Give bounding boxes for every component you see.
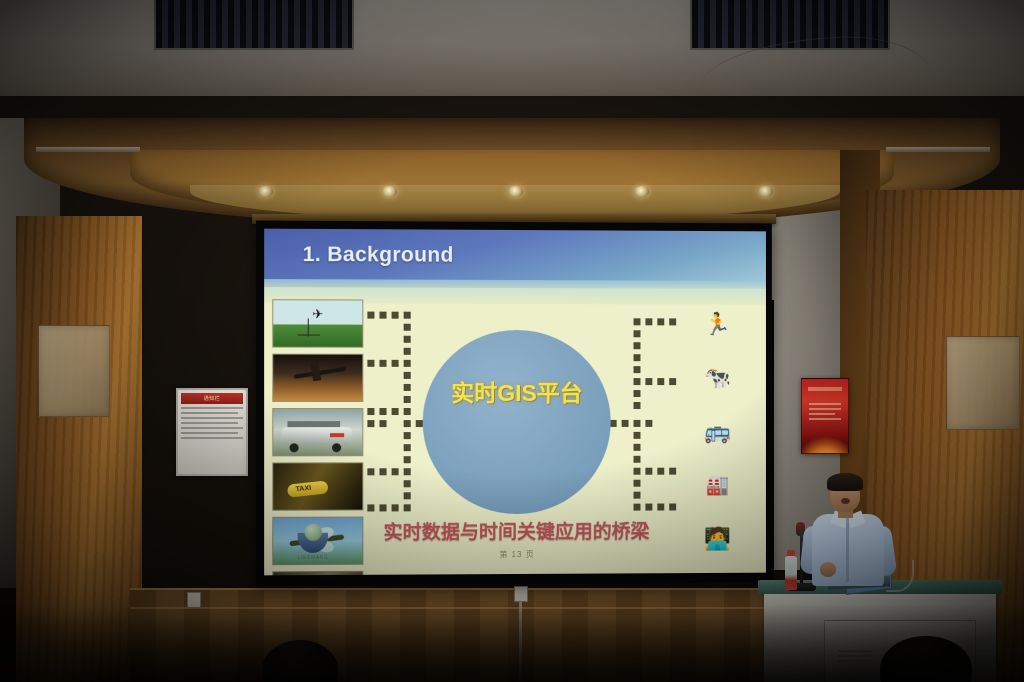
slide-logo: LIESMARS: [286, 527, 339, 561]
notice-board-rows: [181, 407, 243, 439]
slide-heading: 1. Background: [303, 243, 454, 268]
notice-board: 通知栏: [176, 388, 248, 476]
poster-text-lines: [809, 403, 841, 420]
wall-socket-center: [514, 586, 528, 602]
red-propaganda-poster: [801, 378, 849, 454]
survey-antenna-thumbnail: ✈: [272, 299, 363, 348]
presenter: [796, 470, 916, 590]
device-ring-thumbnail: [272, 571, 363, 576]
taxi-thumbnail: TAXI: [272, 462, 363, 511]
presenter-hand: [820, 562, 836, 577]
notice-board-header: 通知栏: [181, 393, 243, 404]
podium-vent-left: [838, 648, 872, 662]
ceiling-rail-right: [886, 147, 990, 152]
wall-inset-panel-left: [38, 325, 110, 417]
presenter-mouth: [841, 498, 850, 504]
center-platform-node: 实时GIS平台: [423, 330, 611, 515]
hanging-cable: [519, 588, 522, 682]
downlight-2: [382, 186, 397, 197]
wall-socket-left: [187, 592, 201, 608]
wall-inset-panel-right: [946, 336, 1020, 430]
downlight-1: [258, 186, 273, 197]
forklift-icon: 🏭: [679, 462, 756, 510]
school-bus-glyph: 🚌: [704, 421, 731, 443]
presenter-shirt-placket: [846, 516, 849, 582]
wood-wall-panel-left: [16, 216, 142, 682]
survey-van-thumbnail: [272, 408, 363, 456]
ceiling-rail-left: [36, 147, 140, 152]
poster-sunrise-graphic: [801, 437, 849, 454]
sports-glyph: 🏃: [704, 314, 731, 336]
projected-slide-area: 1. Background: [264, 229, 766, 576]
presenter-hair: [827, 473, 863, 491]
ceiling-light-panel-left: [154, 0, 354, 50]
notice-board-header-text: 通知栏: [204, 395, 221, 402]
wainscot-trim-line: [130, 607, 866, 609]
aircraft-thumbnail: [272, 354, 363, 402]
downlight-3: [508, 186, 523, 197]
sports-icon: 🏃: [679, 301, 756, 349]
cattle-icon: 🐄: [679, 354, 756, 402]
slide-logo-text: LIESMARS: [298, 555, 328, 561]
logo-globe-icon: [298, 533, 328, 553]
downlight-5: [758, 186, 773, 197]
presentation-slide: 1. Background: [264, 229, 766, 576]
cattle-glyph: 🐄: [704, 367, 731, 389]
slide-footer-caption: 实时数据与时间关键应用的桥梁: [264, 516, 766, 545]
downlight-4: [634, 186, 649, 197]
center-platform-label: 实时GIS平台: [451, 374, 583, 408]
poster-title-bar: [808, 387, 842, 391]
projection-screen: 1. Background: [256, 221, 772, 586]
wainscot-panelling: [130, 588, 866, 682]
lecture-hall-photo: 通知栏 1. Background: [0, 0, 1024, 682]
forklift-glyph: 🏭: [706, 476, 729, 495]
school-bus-icon: 🚌: [679, 408, 756, 456]
